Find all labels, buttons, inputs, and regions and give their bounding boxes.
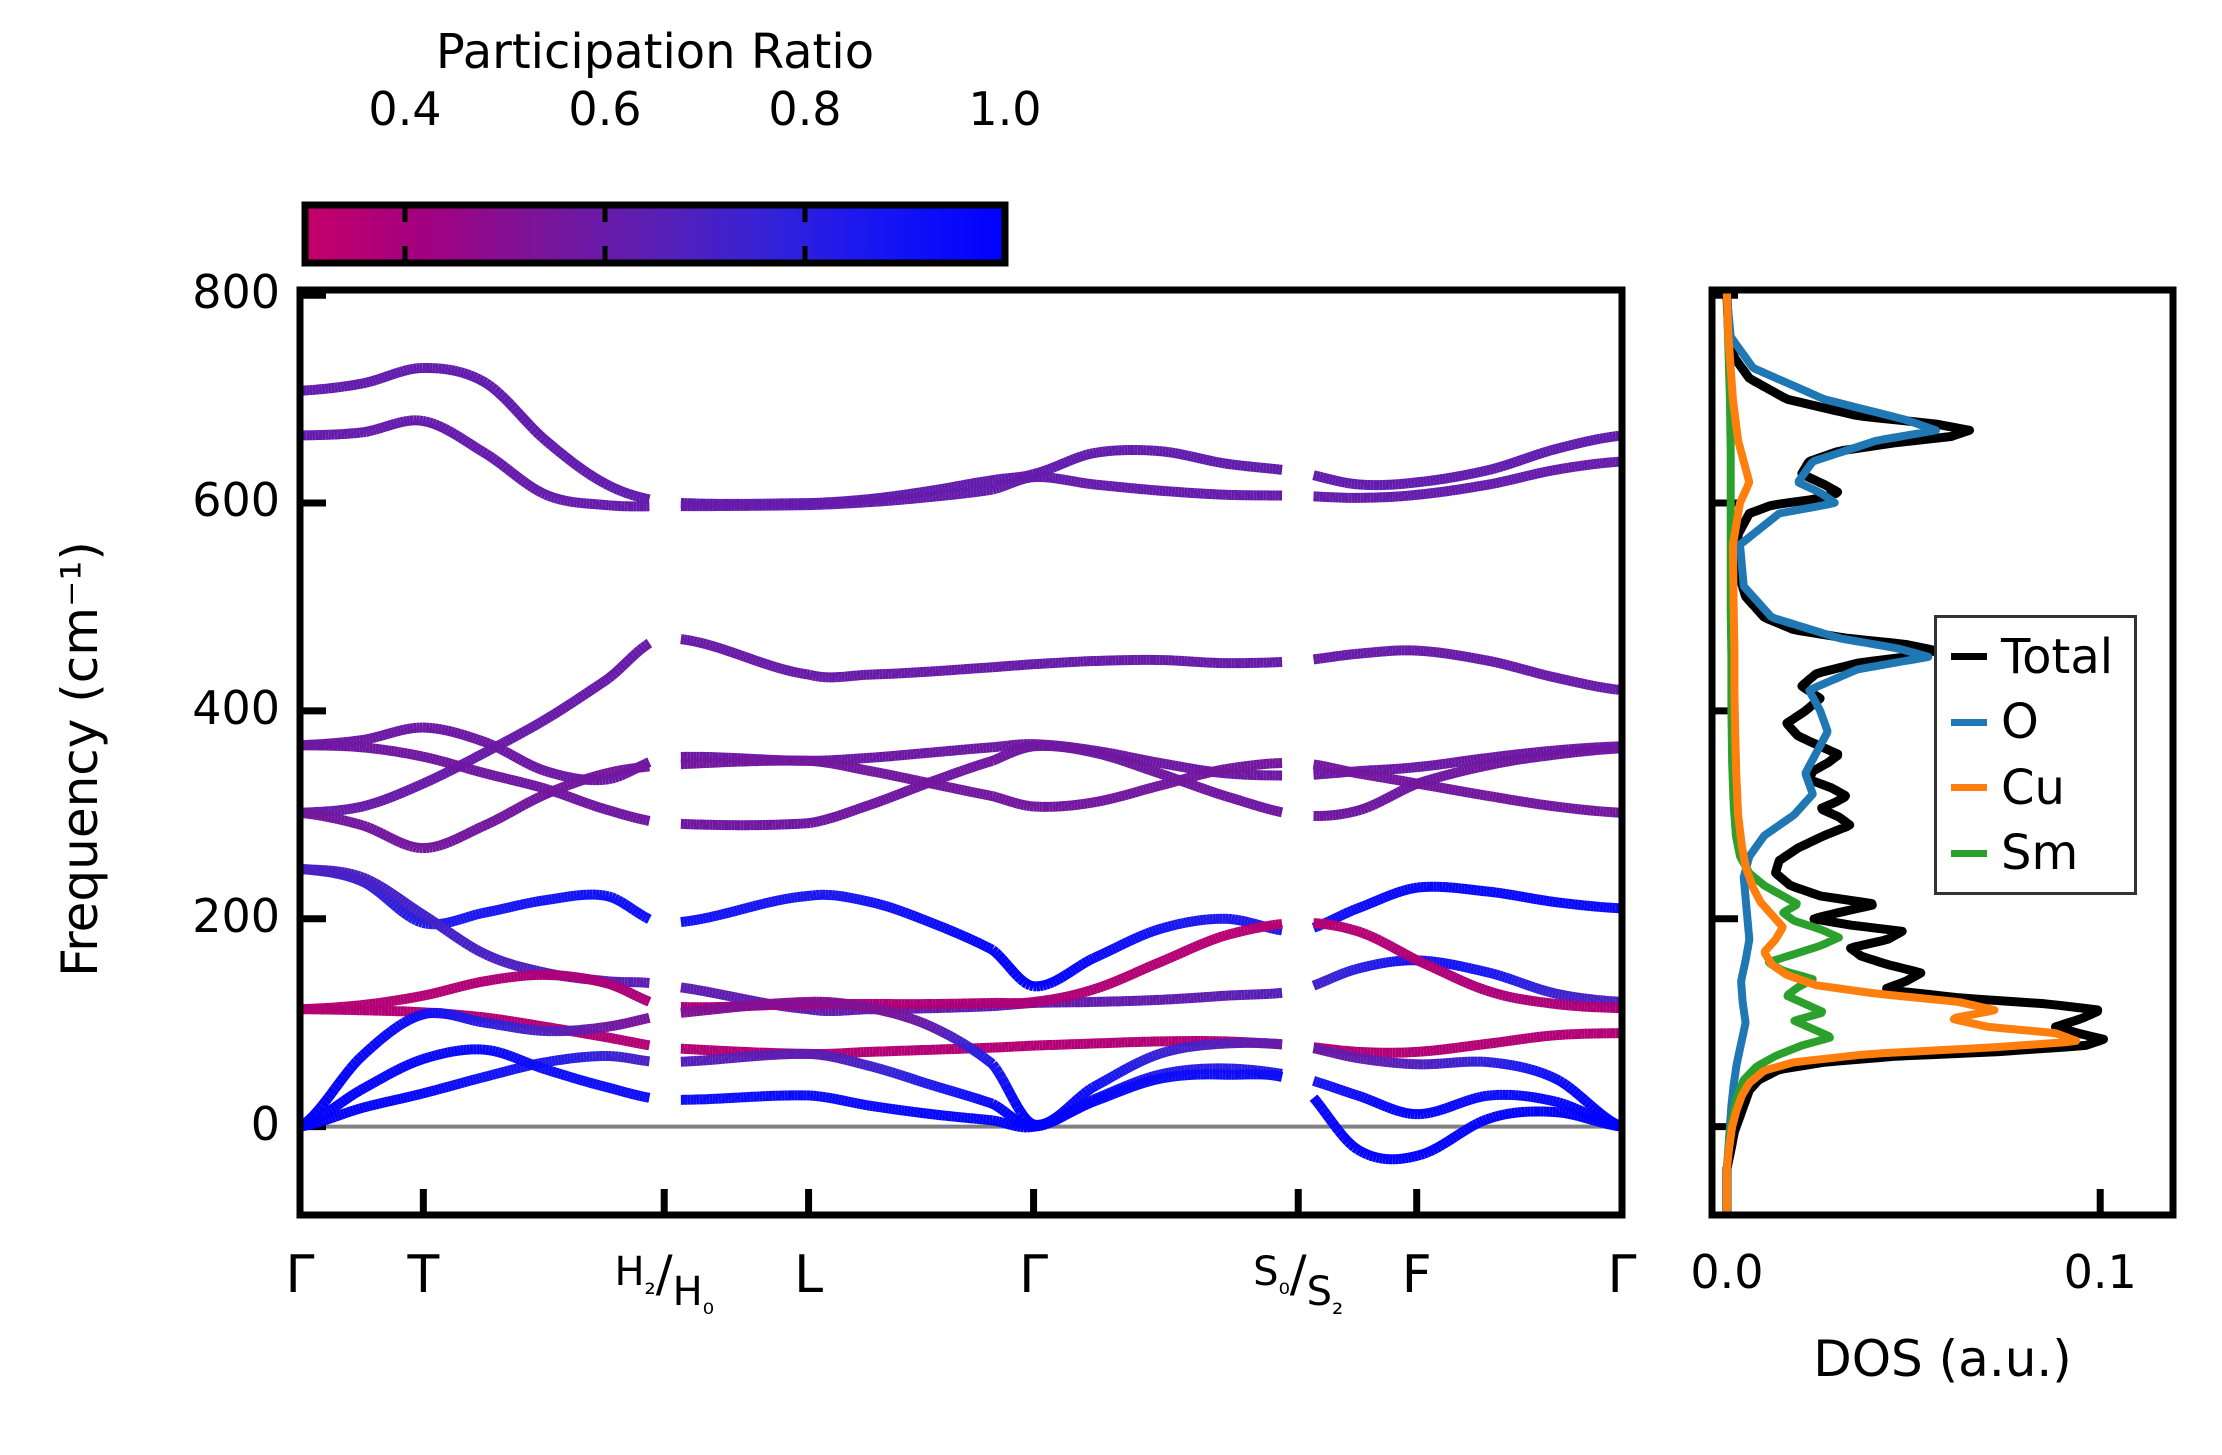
colorbar-tick-1.0: 1.0 bbox=[935, 82, 1075, 136]
band-x-tick-6: F bbox=[1297, 1245, 1537, 1305]
frequency-axis-label-text: Frequency (cm⁻¹) bbox=[51, 541, 109, 977]
dos-x-tick-0.0: 0.0 bbox=[1607, 1245, 1847, 1299]
band-x-tick-4: Γ bbox=[914, 1245, 1154, 1305]
band-y-tick-800: 800 bbox=[0, 265, 280, 319]
participation-ratio-colorbar bbox=[285, 195, 1025, 275]
band-structure-plot bbox=[292, 285, 1632, 1245]
legend-item-cu[interactable]: Cu bbox=[1937, 760, 2134, 816]
band-x-tick-3: L bbox=[689, 1245, 929, 1305]
legend-swatch-cu bbox=[1951, 784, 1987, 791]
dos-legend[interactable]: TotalOCuSm bbox=[1934, 615, 2137, 895]
band-y-tick-400: 400 bbox=[0, 681, 280, 735]
colorbar-tick-0.6: 0.6 bbox=[535, 82, 675, 136]
dos-x-tick-0.1: 0.1 bbox=[1980, 1245, 2220, 1299]
legend-label-sm: Sm bbox=[2001, 825, 2078, 881]
legend-item-total[interactable]: Total bbox=[1937, 629, 2134, 685]
colorbar-tick-0.4: 0.4 bbox=[335, 82, 475, 136]
legend-swatch-sm bbox=[1951, 850, 1987, 857]
legend-item-o[interactable]: O bbox=[1937, 694, 2134, 750]
legend-label-o: O bbox=[2001, 694, 2039, 750]
band-y-tick-0: 0 bbox=[0, 1097, 280, 1151]
colorbar-tick-0.8: 0.8 bbox=[735, 82, 875, 136]
legend-item-sm[interactable]: Sm bbox=[1937, 825, 2134, 881]
legend-swatch-total bbox=[1951, 653, 1987, 660]
legend-label-cu: Cu bbox=[2001, 760, 2065, 816]
band-x-tick-1: T bbox=[303, 1245, 543, 1305]
colorbar-title: Participation Ratio bbox=[305, 24, 1005, 80]
dos-axis-label: DOS (a.u.) bbox=[1712, 1330, 2173, 1388]
phonon-band-dos-figure: Participation Ratio 0.40.60.81.0 0200400… bbox=[0, 0, 2222, 1455]
legend-label-total: Total bbox=[2001, 629, 2113, 685]
frequency-axis-label: Frequency (cm⁻¹) bbox=[51, 479, 109, 1039]
band-y-tick-200: 200 bbox=[0, 889, 280, 943]
legend-swatch-o bbox=[1951, 719, 1987, 726]
band-y-tick-600: 600 bbox=[0, 473, 280, 527]
